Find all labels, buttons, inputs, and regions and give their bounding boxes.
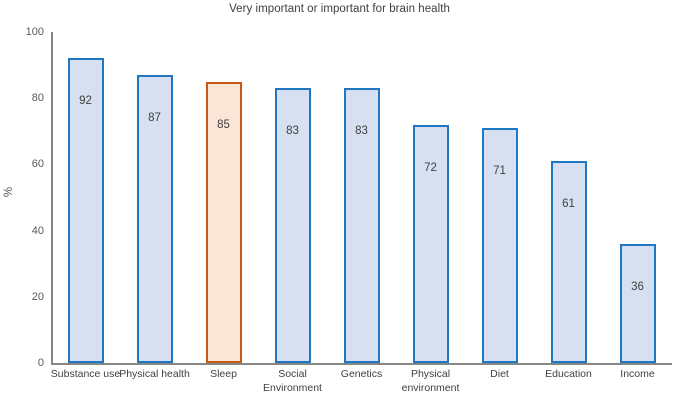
y-axis-title: %: [3, 177, 15, 207]
bar-value-label-0: 92: [51, 95, 120, 108]
y-axis-tick-label: 60: [16, 158, 44, 170]
bar-8[interactable]: [620, 244, 656, 363]
bar-value-label-8: 36: [603, 281, 672, 294]
bar-value-label-5: 72: [396, 162, 465, 175]
bar-chart: Very important or important for brain he…: [0, 0, 679, 401]
chart-title: Very important or important for brain he…: [0, 3, 679, 15]
x-axis-line: [51, 363, 672, 365]
bar-value-label-3: 83: [258, 125, 327, 138]
y-axis-tick-label: 80: [16, 92, 44, 104]
bar-value-label-7: 61: [534, 198, 603, 211]
y-axis-tick-label: 40: [16, 225, 44, 237]
y-axis-tick-label: 100: [16, 26, 44, 38]
plot-area: 928785838372716136: [51, 32, 672, 363]
y-axis-tick-label: 20: [16, 291, 44, 303]
bar-value-label-6: 71: [465, 165, 534, 178]
y-axis-tick-label: 0: [16, 357, 44, 369]
x-axis-category-label-8: Income: [597, 368, 678, 382]
bar-7[interactable]: [551, 161, 587, 363]
bar-6[interactable]: [482, 128, 518, 363]
bar-value-label-4: 83: [327, 125, 396, 138]
bar-value-label-2: 85: [189, 119, 258, 132]
bar-value-label-1: 87: [120, 112, 189, 125]
bar-5[interactable]: [413, 125, 449, 363]
